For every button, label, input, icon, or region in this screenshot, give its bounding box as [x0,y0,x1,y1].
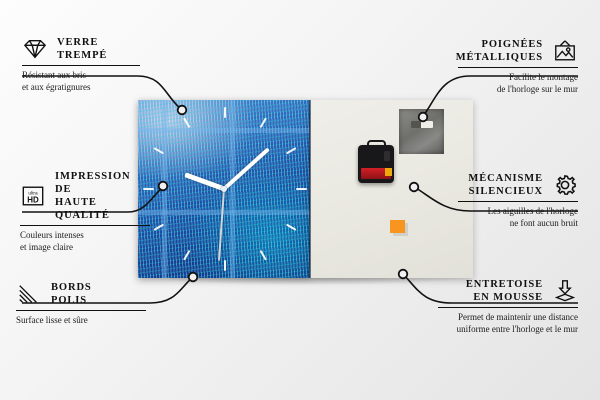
feature-entretoise-en-mousse[interactable]: ENTRETOISE EN MOUSSE Permet de maintenir… [438,278,578,335]
divider [458,67,578,68]
panel-seam [309,100,311,278]
feature-impression-hd[interactable]: ultra HD IMPRESSION DE HAUTE QUALITÉ Cou… [20,170,150,253]
ultra-hd-icon: ultra HD [20,184,46,208]
feature-title: BORDS POLIS [51,281,92,307]
clock-hour-hand [184,172,225,191]
clock-back-panel [310,100,473,278]
svg-text:HD: HD [27,195,39,204]
feature-subtitle: Résistant aux bris et aux égratignures [22,70,140,93]
feature-title: ENTRETOISE EN MOUSSE [466,278,543,304]
feature-verre-trempe[interactable]: VERRE TREMPÉ Résistant aux bris et aux é… [22,36,140,93]
feature-subtitle: Couleurs intenses et image claire [20,230,150,253]
feature-bords-polis[interactable]: BORDS POLIS Surface lisse et sûre [16,281,146,327]
clock-center-pin [221,186,227,192]
feature-mecanisme-silencieux[interactable]: MÉCANISME SILENCIEUX Les aiguilles de l'… [458,172,578,229]
hanging-frame-icon [552,39,578,63]
feature-subtitle: Les aiguilles de l'horloge ne font aucun… [458,206,578,229]
feature-title: IMPRESSION DE HAUTE QUALITÉ [55,170,150,222]
gear-icon [552,173,578,197]
feature-poignees-metalliques[interactable]: POIGNÉES MÉTALLIQUES Facilite le montage… [458,38,578,95]
divider [458,201,578,202]
foam-spacer [390,220,405,233]
feature-title: VERRE TREMPÉ [57,36,107,62]
infographic-canvas: VERRE TREMPÉ Résistant aux bris et aux é… [0,0,600,400]
clock-front-face [138,100,310,278]
divider [22,65,140,66]
foam-spacer-icon [552,279,578,303]
diamond-icon [22,37,48,61]
feature-title: POIGNÉES MÉTALLIQUES [456,38,543,64]
feature-subtitle: Permet de maintenir une distance uniform… [438,312,578,335]
polished-edges-icon [16,282,42,306]
battery [361,168,391,179]
clock-mechanism [358,145,394,183]
feature-subtitle: Facilite le montage de l'horloge sur le … [458,72,578,95]
metal-hanger [399,109,444,154]
clock-second-hand [218,189,225,261]
divider [20,225,150,226]
feature-subtitle: Surface lisse et sûre [16,315,146,327]
divider [438,307,578,308]
feature-title: MÉCANISME SILENCIEUX [468,172,543,198]
product-photo [138,100,473,278]
divider [16,310,146,311]
